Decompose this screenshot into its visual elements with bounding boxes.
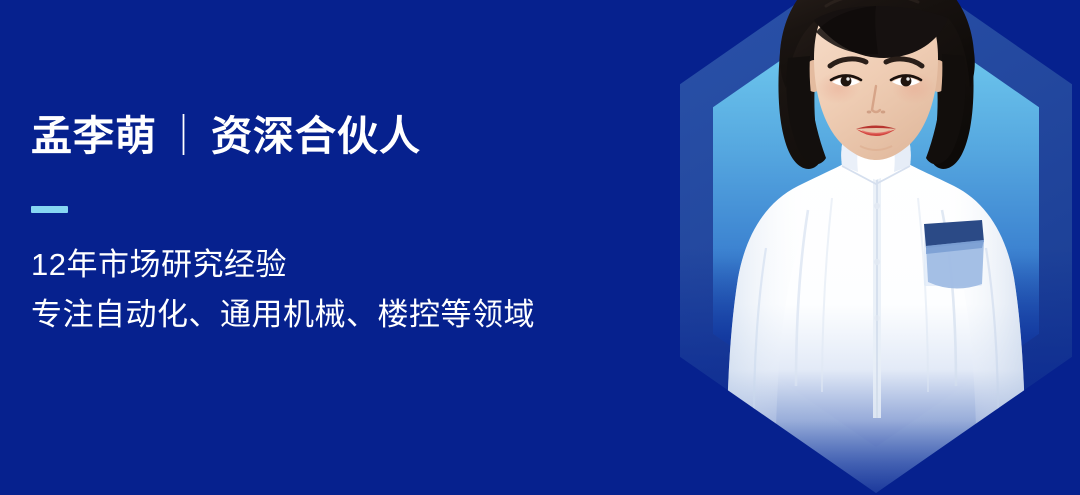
profile-description: 12年市场研究经验 专注自动化、通用机械、楼控等领域 (31, 240, 535, 340)
profile-role: 资深合伙人 (211, 113, 421, 159)
page-title: 孟李萌｜资深合伙人 (31, 113, 421, 160)
title-separator: ｜ (157, 113, 211, 160)
description-line-1: 12年市场研究经验 (31, 240, 535, 290)
accent-divider (31, 206, 68, 213)
profile-name: 孟李萌 (31, 113, 157, 159)
portrait-image (680, 0, 1072, 493)
portrait-hexagon-frame (680, 0, 1072, 493)
pocket-square (924, 220, 984, 289)
description-line-2: 专注自动化、通用机械、楼控等领域 (31, 290, 535, 340)
profile-text-block: 孟李萌｜资深合伙人 12年市场研究经验 专注自动化、通用机械、楼控等领域 (31, 0, 671, 495)
profile-card: 孟李萌｜资深合伙人 12年市场研究经验 专注自动化、通用机械、楼控等领域 (0, 0, 1080, 495)
